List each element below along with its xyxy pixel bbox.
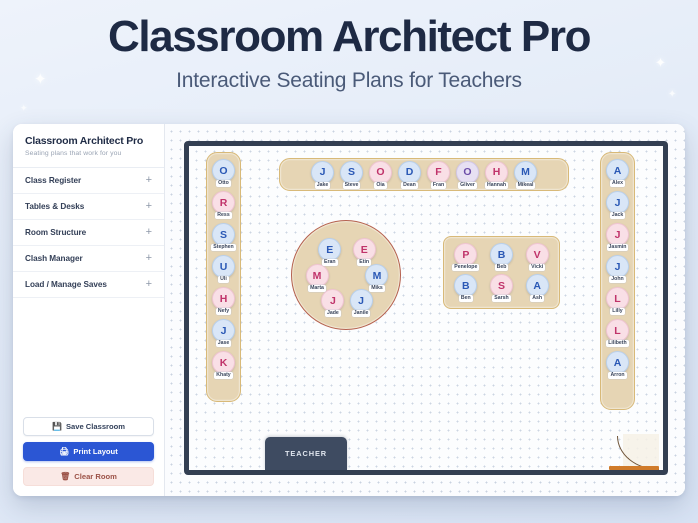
sidebar-item-label: Load / Manage Saves xyxy=(25,280,107,289)
student-avatar[interactable]: O xyxy=(369,161,392,184)
desk-group-top-row[interactable]: JJakeSSteveOOiaDDeanFFranOGliverHHannahM… xyxy=(279,158,569,191)
student-avatar[interactable]: M xyxy=(365,264,388,287)
student-avatar[interactable]: S xyxy=(340,161,363,184)
student-name-label: Uli xyxy=(218,276,229,283)
expand-plus-icon[interactable]: + xyxy=(146,253,152,264)
student-seat[interactable]: EEtin xyxy=(353,238,376,266)
student-seat[interactable]: LLilly xyxy=(606,287,629,315)
student-name-label: Lilly xyxy=(610,308,624,315)
door-threshold xyxy=(609,466,659,470)
student-name-label: Sarsh xyxy=(492,295,510,302)
student-avatar[interactable]: H xyxy=(212,287,235,310)
sidebar-actions: 💾Save Classroom🖨Print Layout🗑Clear Room xyxy=(13,409,164,496)
student-avatar[interactable]: J xyxy=(212,319,235,342)
student-seat[interactable]: MMiks xyxy=(365,264,388,292)
student-seat[interactable]: OOia xyxy=(369,161,392,189)
student-seat[interactable]: LLilibeth xyxy=(606,319,629,347)
student-avatar[interactable]: V xyxy=(526,243,549,266)
student-avatar[interactable]: J xyxy=(606,191,629,214)
desk-group-left-column[interactable]: OOttoRRessSStephenUUliHNefyJJaseKKhaty xyxy=(206,152,241,402)
room-outline[interactable]: OOttoRRessSStephenUUliHNefyJJaseKKhaty J… xyxy=(184,141,668,475)
sidebar-tagline: Seating plans that work for you xyxy=(25,150,152,157)
desk-group-center-pod[interactable]: PPenelopeBBebVVickiBBenSSarshAAsh xyxy=(443,236,560,309)
student-name-label: Gliver xyxy=(458,182,477,189)
student-seat[interactable]: JJasmin xyxy=(606,223,629,251)
student-avatar[interactable]: A xyxy=(606,159,629,182)
expand-plus-icon[interactable]: + xyxy=(146,227,152,238)
student-seat[interactable]: JJake xyxy=(311,161,334,189)
student-name-label: Stephen xyxy=(211,244,235,251)
student-avatar[interactable]: J xyxy=(606,255,629,278)
student-seat[interactable]: DDean xyxy=(398,161,421,189)
student-name-label: Jack xyxy=(610,212,626,219)
student-avatar[interactable]: B xyxy=(490,243,513,266)
desk-group-round-table[interactable]: EEranEEtinMMartaMMiksJJadeJJanile xyxy=(291,220,401,330)
classroom-canvas[interactable]: OOttoRRessSStephenUUliHNefyJJaseKKhaty J… xyxy=(165,124,685,496)
student-seat[interactable]: UUli xyxy=(212,255,235,283)
app-window: Classroom Architect Pro Seating plans th… xyxy=(13,124,685,496)
student-name-label: Eran xyxy=(322,259,338,266)
student-avatar[interactable]: B xyxy=(454,274,477,297)
save-button[interactable]: 💾Save Classroom xyxy=(23,417,154,436)
student-name-label: Penelope xyxy=(452,264,479,271)
printer-icon: 🖨 xyxy=(59,448,69,456)
student-seat[interactable]: MMarta xyxy=(306,264,329,292)
student-avatar[interactable]: A xyxy=(606,351,629,374)
student-name-label: Janile xyxy=(352,310,371,317)
student-avatar[interactable]: E xyxy=(353,238,376,261)
sidebar-item-class-register[interactable]: Class Register+ xyxy=(13,168,164,194)
student-avatar[interactable]: J xyxy=(350,289,373,312)
student-avatar[interactable]: P xyxy=(454,243,477,266)
student-name-label: Vicki xyxy=(529,264,545,271)
student-name-label: Ben xyxy=(459,295,473,302)
sidebar: Classroom Architect Pro Seating plans th… xyxy=(13,124,165,496)
student-seat[interactable]: FFran xyxy=(427,161,450,189)
sidebar-app-title: Classroom Architect Pro xyxy=(25,135,152,147)
student-name-label: John xyxy=(609,276,625,283)
student-name-label: Ash xyxy=(530,295,544,302)
student-seat[interactable]: JJohn xyxy=(606,255,629,283)
student-name-label: Arron xyxy=(608,372,626,379)
student-avatar[interactable]: O xyxy=(456,161,479,184)
student-avatar[interactable]: E xyxy=(318,238,341,261)
hero-header: Classroom Architect Pro Interactive Seat… xyxy=(0,0,698,93)
student-name-label: Lilibeth xyxy=(606,340,628,347)
student-avatar[interactable]: A xyxy=(526,274,549,297)
student-name-label: Jasmin xyxy=(607,244,629,251)
student-seat[interactable]: AArron xyxy=(606,351,629,379)
teacher-desk[interactable]: TEACHER xyxy=(265,437,347,470)
expand-plus-icon[interactable]: + xyxy=(146,175,152,186)
student-seat[interactable]: HHannah xyxy=(485,161,508,189)
student-seat[interactable]: JJack xyxy=(606,191,629,219)
student-seat[interactable]: BBen xyxy=(454,274,477,302)
save-button-label: Save Classroom xyxy=(66,422,125,431)
student-name-label: Miks xyxy=(369,285,385,292)
sidebar-item-label: Room Structure xyxy=(25,228,86,237)
trash-icon: 🗑 xyxy=(60,473,70,481)
student-name-label: Jase xyxy=(216,340,232,347)
student-seat[interactable]: RRess xyxy=(212,191,235,219)
student-avatar[interactable]: D xyxy=(398,161,421,184)
student-avatar[interactable]: O xyxy=(212,159,235,182)
student-seat[interactable]: JJanile xyxy=(350,289,373,317)
sidebar-item-label: Class Register xyxy=(25,176,81,185)
student-name-label: Jake xyxy=(315,182,331,189)
floppy-disk-icon: 💾 xyxy=(52,423,62,431)
sidebar-item-room-structure[interactable]: Room Structure+ xyxy=(13,220,164,246)
student-name-label: Mikeal xyxy=(516,182,536,189)
student-name-label: Alex xyxy=(610,180,625,187)
student-name-label: Fran xyxy=(431,182,446,189)
student-seat[interactable]: SStephen xyxy=(212,223,235,251)
student-name-label: Khaty xyxy=(214,372,232,379)
sidebar-item-load-manage-saves[interactable]: Load / Manage Saves+ xyxy=(13,272,164,298)
student-avatar[interactable]: J xyxy=(606,223,629,246)
student-avatar[interactable]: K xyxy=(212,351,235,374)
sparkle-icon: ✦ xyxy=(20,104,28,113)
student-avatar[interactable]: F xyxy=(427,161,450,184)
student-avatar[interactable]: H xyxy=(485,161,508,184)
student-name-label: Steve xyxy=(343,182,361,189)
sidebar-item-label: Tables & Desks xyxy=(25,202,84,211)
page-title: Classroom Architect Pro xyxy=(0,14,698,61)
clear-button-label: Clear Room xyxy=(74,472,117,481)
desk-group-right-column[interactable]: AAlexJJackJJasminJJohnLLillyLLilibethAAr… xyxy=(600,152,635,410)
student-seat[interactable]: HNefy xyxy=(212,287,235,315)
student-avatar[interactable]: L xyxy=(606,319,629,342)
student-avatar[interactable]: S xyxy=(212,223,235,246)
expand-plus-icon[interactable]: + xyxy=(146,201,152,212)
sidebar-item-label: Clash Manager xyxy=(25,254,83,263)
student-seat[interactable]: VVicki xyxy=(526,243,549,271)
student-seat[interactable]: EEran xyxy=(318,238,341,266)
student-seat[interactable]: OOtto xyxy=(212,159,235,187)
student-seat[interactable]: SSarsh xyxy=(490,274,513,302)
student-name-label: Hannah xyxy=(485,182,508,189)
clear-button[interactable]: 🗑Clear Room xyxy=(23,467,154,486)
student-seat[interactable]: JJade xyxy=(321,289,344,317)
student-name-label: Nefy xyxy=(216,308,231,315)
print-button-label: Print Layout xyxy=(73,447,117,456)
sidebar-item-clash-manager[interactable]: Clash Manager+ xyxy=(13,246,164,272)
student-seat[interactable]: PPenelope xyxy=(454,243,477,271)
sidebar-nav: Class Register+Tables & Desks+Room Struc… xyxy=(13,168,164,409)
student-seat[interactable]: AAlex xyxy=(606,159,629,187)
student-seat[interactable]: KKhaty xyxy=(212,351,235,379)
student-name-label: Marta xyxy=(308,285,326,292)
student-name-label: Otto xyxy=(216,180,231,187)
student-seat[interactable]: AAsh xyxy=(526,274,549,302)
student-avatar[interactable]: S xyxy=(490,274,513,297)
student-seat[interactable]: MMikeal xyxy=(514,161,537,189)
sidebar-item-tables-desks[interactable]: Tables & Desks+ xyxy=(13,194,164,220)
student-seat[interactable]: OGliver xyxy=(456,161,479,189)
student-name-label: Oia xyxy=(374,182,386,189)
student-name-label: Beb xyxy=(495,264,509,271)
sidebar-header: Classroom Architect Pro Seating plans th… xyxy=(13,124,164,168)
student-avatar[interactable]: J xyxy=(321,289,344,312)
student-avatar[interactable]: M xyxy=(306,264,329,287)
student-name-label: Etin xyxy=(357,259,371,266)
student-avatar[interactable]: R xyxy=(212,191,235,214)
student-name-label: Jade xyxy=(325,310,341,317)
student-seat[interactable]: BBeb xyxy=(490,243,513,271)
student-seat[interactable]: SSteve xyxy=(340,161,363,189)
student-avatar[interactable]: L xyxy=(606,287,629,310)
student-avatar[interactable]: U xyxy=(212,255,235,278)
expand-plus-icon[interactable]: + xyxy=(146,279,152,290)
student-avatar[interactable]: J xyxy=(311,161,334,184)
student-name-label: Dean xyxy=(401,182,418,189)
student-avatar[interactable]: M xyxy=(514,161,537,184)
student-name-label: Ress xyxy=(215,212,231,219)
page-subtitle: Interactive Seating Plans for Teachers xyxy=(0,69,698,93)
print-button[interactable]: 🖨Print Layout xyxy=(23,442,154,461)
student-seat[interactable]: JJase xyxy=(212,319,235,347)
